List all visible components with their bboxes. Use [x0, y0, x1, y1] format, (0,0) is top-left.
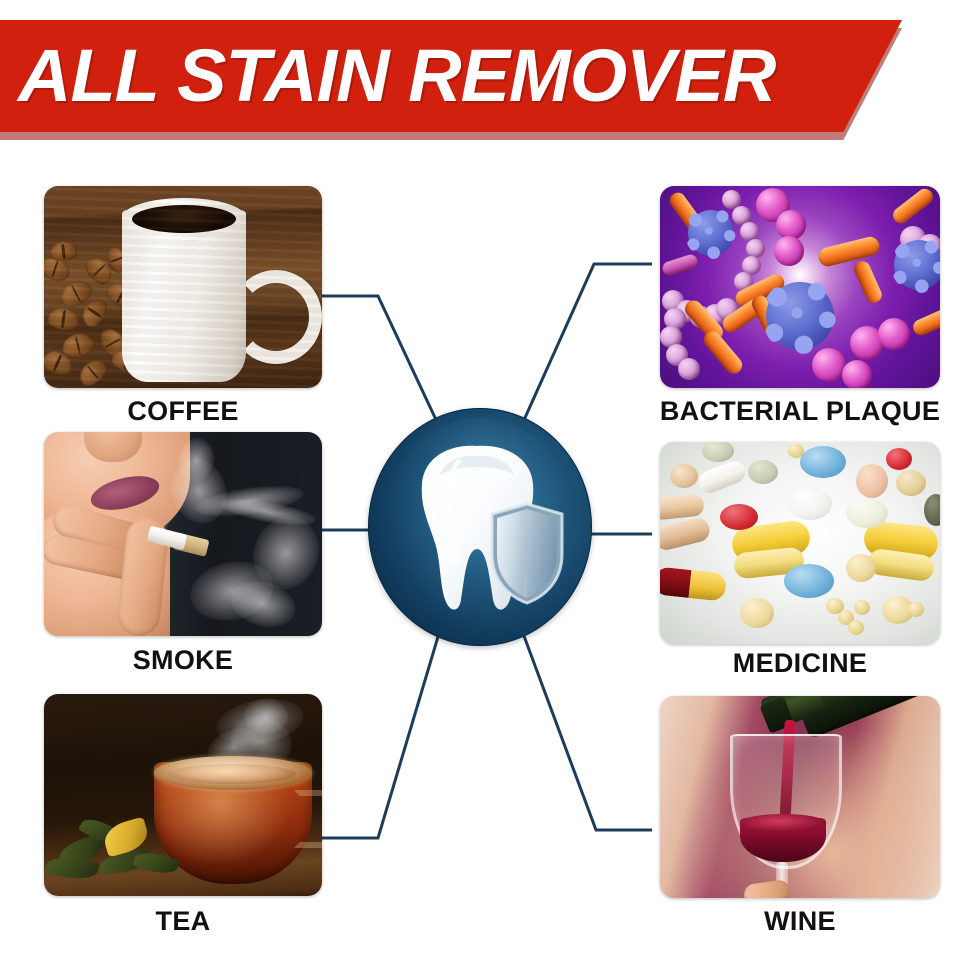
- stain-card-bacterial-plaque[interactable]: [660, 186, 940, 388]
- mug-handle: [230, 270, 322, 364]
- pill: [748, 460, 778, 484]
- red-wine-pouring-photo: [660, 696, 940, 898]
- pill: [896, 470, 926, 496]
- connector-line-wine: [524, 636, 652, 830]
- pill: [854, 600, 870, 615]
- stain-card-coffee[interactable]: [44, 186, 322, 388]
- connector-line-coffee: [322, 296, 438, 424]
- pill: [696, 458, 749, 496]
- stain-label-smoke: SMOKE: [44, 645, 322, 676]
- pill: [848, 620, 864, 635]
- stain-label-coffee: COFFEE: [44, 396, 322, 427]
- pill: [788, 444, 804, 458]
- assorted-pills-photo: [660, 442, 940, 644]
- pill: [784, 564, 834, 598]
- pill: [788, 488, 832, 520]
- mug-rim: [122, 198, 246, 238]
- pill: [670, 464, 698, 488]
- stain-label-wine: WINE: [660, 906, 940, 937]
- pill: [856, 464, 888, 498]
- pill: [800, 446, 846, 478]
- stain-label-bacterial-plaque: BACTERIAL PLAQUE: [644, 396, 956, 427]
- pill: [924, 494, 940, 526]
- hand: [743, 879, 792, 898]
- stain-card-tea[interactable]: [44, 694, 322, 896]
- stain-label-medicine: MEDICINE: [660, 648, 940, 679]
- stain-label-tea: TEA: [44, 906, 322, 937]
- mug-body: [122, 210, 246, 382]
- pill: [660, 516, 712, 553]
- tea-cup-photo: [44, 694, 322, 896]
- bacteria-microscope-photo: [660, 186, 940, 388]
- pill: [846, 498, 888, 528]
- stain-card-smoke[interactable]: [44, 432, 322, 636]
- center-hub: [368, 408, 592, 646]
- coffee-cup-photo: [44, 186, 322, 388]
- pill: [702, 442, 734, 462]
- stain-card-wine[interactable]: [660, 696, 940, 898]
- page-title: ALL STAIN REMOVER: [18, 26, 878, 126]
- coffee-liquid: [132, 205, 236, 233]
- pill: [740, 598, 774, 628]
- pill: [660, 493, 705, 520]
- header-banner: ALL STAIN REMOVER: [0, 20, 960, 140]
- infographic-poster: ALL STAIN REMOVER: [0, 0, 960, 960]
- smoking-person-photo: [44, 432, 322, 636]
- shield-icon: [488, 502, 566, 606]
- connector-line-bacterial-plaque: [524, 264, 652, 420]
- pill: [908, 602, 924, 617]
- stain-card-medicine[interactable]: [660, 442, 940, 644]
- pill: [720, 504, 758, 530]
- pill: [660, 566, 727, 601]
- connector-line-tea: [322, 630, 440, 838]
- pill: [846, 554, 876, 582]
- pill: [886, 448, 912, 470]
